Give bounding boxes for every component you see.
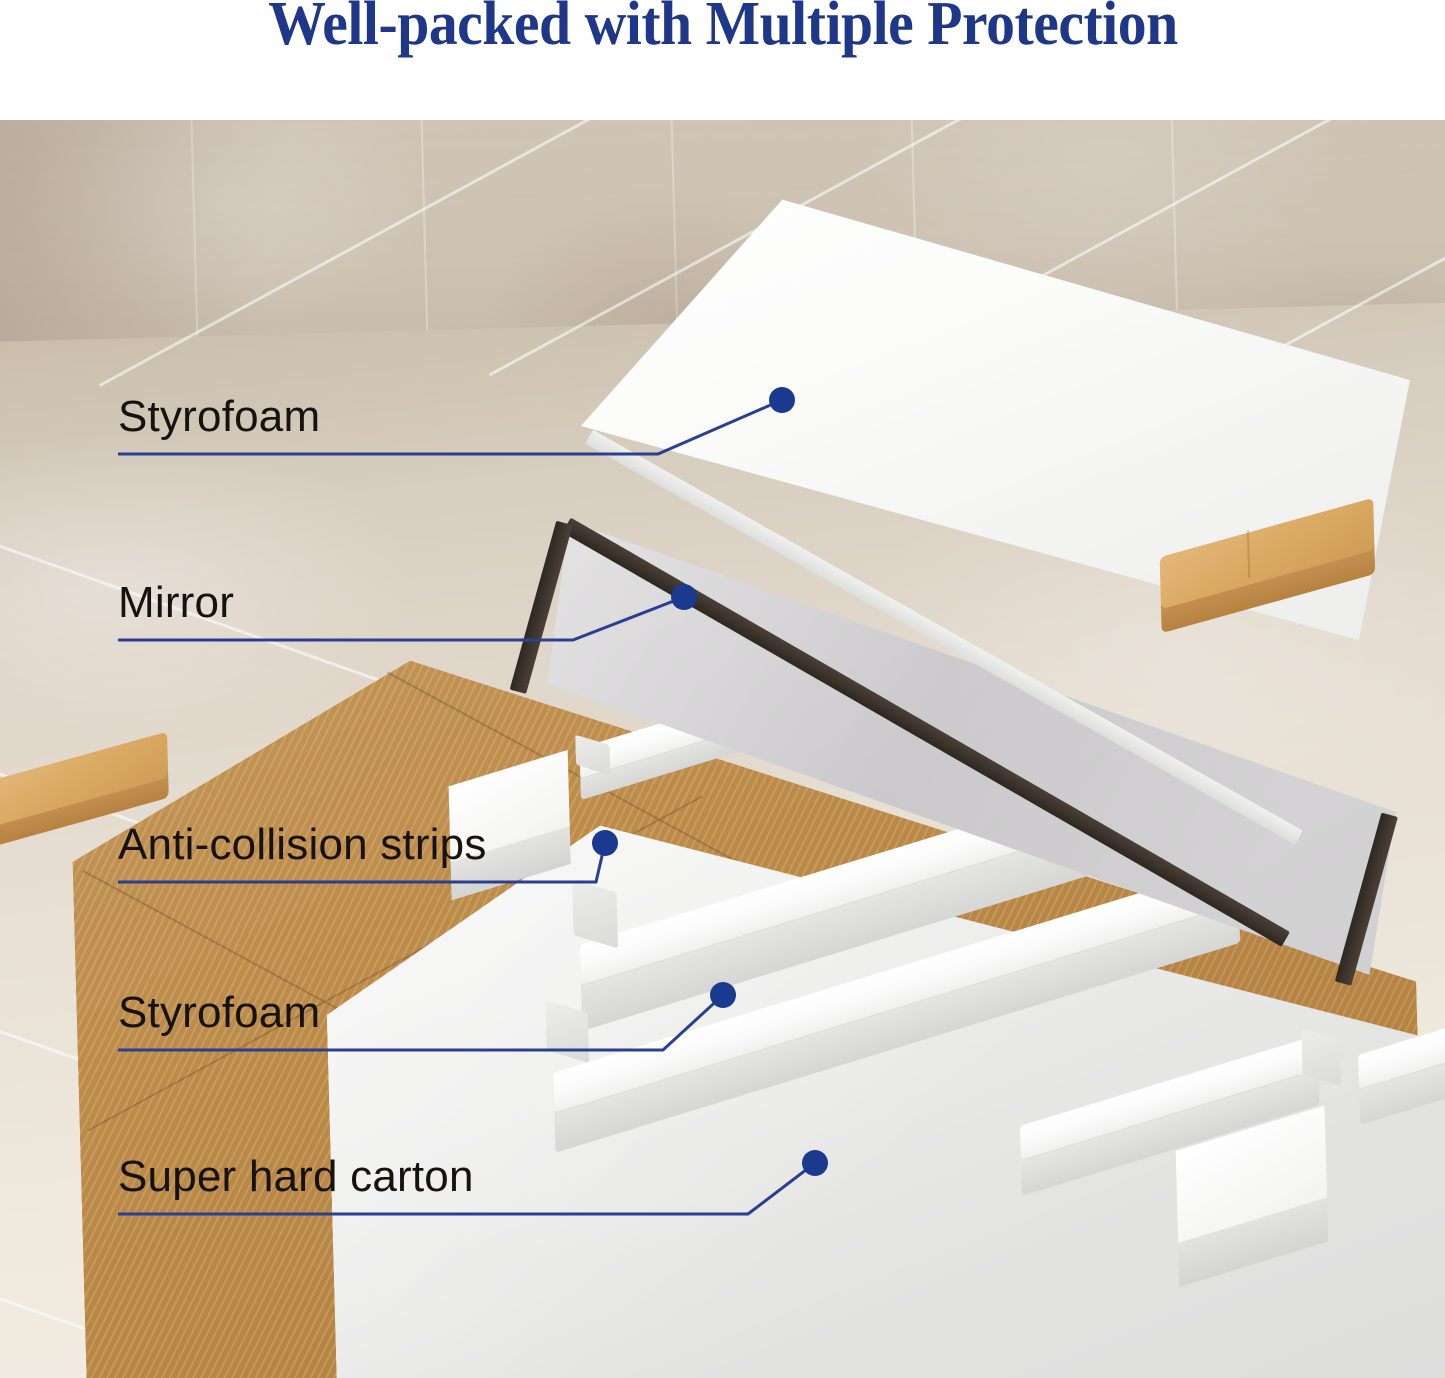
callout-layer: StyrofoamMirrorAnti-collision stripsStyr… (0, 0, 1445, 1378)
callout-label-styrofoam-top: Styrofoam (118, 392, 320, 442)
callout-label-super-hard-carton: Super hard carton (118, 1152, 474, 1202)
leader-dot-styrofoam-bottom (710, 982, 736, 1008)
leader-dot-super-hard-carton (802, 1150, 828, 1176)
leader-dot-styrofoam-top (769, 387, 795, 413)
leader-dot-mirror (671, 584, 697, 610)
callout-label-styrofoam-bottom: Styrofoam (118, 988, 320, 1038)
packaging-infographic: Well-packed with Multiple Protection Sty… (0, 0, 1445, 1378)
leader-dot-anti-collision (592, 830, 618, 856)
callout-label-mirror: Mirror (118, 578, 234, 628)
callout-label-anti-collision: Anti-collision strips (118, 820, 487, 870)
